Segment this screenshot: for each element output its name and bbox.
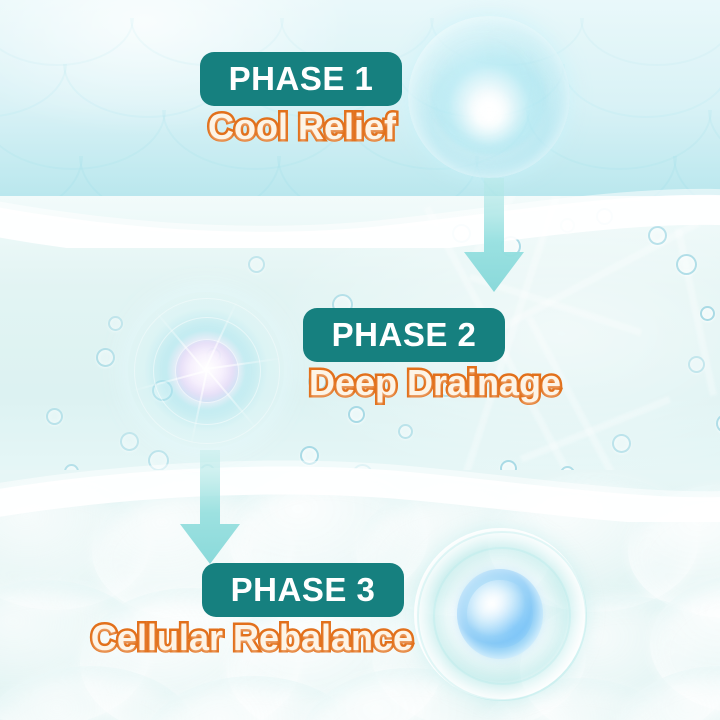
phase-3-badge[interactable]: PHASE 3	[202, 563, 404, 617]
phase-2-caption: Deep Drainage	[300, 362, 570, 404]
phase-1-caption: Cool Relief	[202, 106, 402, 148]
phase2-radiant-burst-orb	[128, 292, 284, 448]
arrow-phase2-to-phase3	[178, 450, 242, 568]
phase-1-badge[interactable]: PHASE 1	[200, 52, 402, 106]
infographic-canvas: PHASE 1 Cool Relief PHASE 2 Deep Drainag…	[0, 0, 720, 720]
phase1-glowing-bubble-orb	[408, 16, 570, 178]
phase-2-badge[interactable]: PHASE 2	[303, 308, 505, 362]
phase3-cell-nucleus-orb	[414, 528, 586, 700]
phase-3-caption: Cellular Rebalance	[82, 617, 422, 659]
arrow-phase1-to-phase2	[462, 178, 526, 296]
